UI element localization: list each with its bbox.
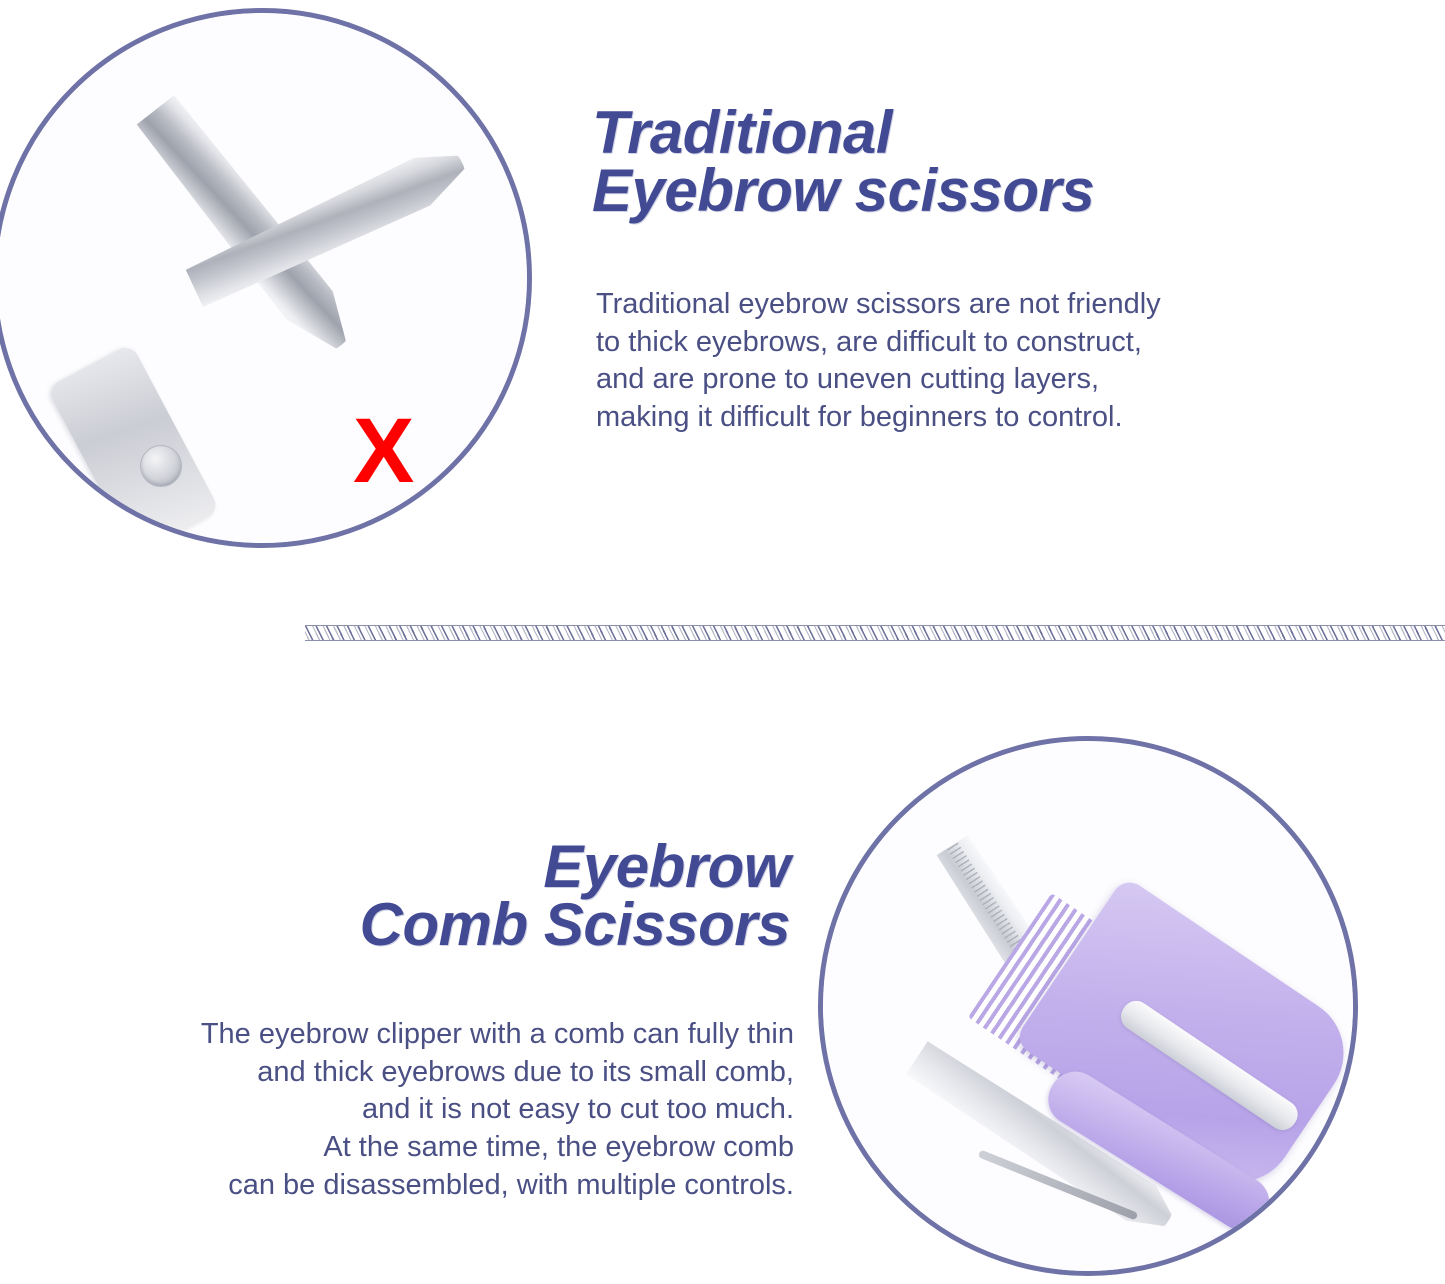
traditional-body-line-4: making it difficult for beginners to con… <box>596 399 1356 437</box>
comb-scissors-body-line-2: and thick eyebrows due to its small comb… <box>4 1054 794 1092</box>
comb-scissors-headline: Eyebrow Comb Scissors <box>150 838 790 953</box>
comb-scissors-body-line-3: and it is not easy to cut too much. <box>4 1091 794 1129</box>
traditional-scissors-photo: X <box>0 13 527 543</box>
traditional-body-line-3: and are prone to uneven cutting layers, <box>596 361 1356 399</box>
traditional-body-line-1: Traditional eyebrow scissors are not fri… <box>596 286 1356 324</box>
rope-divider-strand <box>305 625 1445 641</box>
comb-scissors-photo-circle <box>818 736 1358 1276</box>
comb-scissors-photo <box>823 741 1353 1271</box>
comb-scissors-body-text: The eyebrow clipper with a comb can full… <box>4 1016 794 1204</box>
comb-scissors-body-line-5: can be disassembled, with multiple contr… <box>4 1167 794 1205</box>
rope-divider <box>305 622 1445 644</box>
traditional-headline-line-2: Eyebrow scissors <box>592 162 1292 220</box>
red-x-icon: X <box>353 405 412 497</box>
comb-scissors-headline-line-1: Eyebrow <box>150 838 790 896</box>
infographic-page: X Traditional Eyebrow scissors Tradition… <box>0 0 1445 1284</box>
traditional-headline: Traditional Eyebrow scissors <box>592 104 1292 219</box>
comb-scissors-body-line-1: The eyebrow clipper with a comb can full… <box>4 1016 794 1054</box>
traditional-body-text: Traditional eyebrow scissors are not fri… <box>596 286 1356 437</box>
scissor-pivot-screw <box>140 445 182 487</box>
traditional-body-line-2: to thick eyebrows, are difficult to cons… <box>596 324 1356 362</box>
traditional-scissors-photo-circle: X <box>0 8 532 548</box>
comb-scissors-headline-line-2: Comb Scissors <box>150 896 790 954</box>
comb-scissors-body-line-4: At the same time, the eyebrow comb <box>4 1129 794 1167</box>
scissor-shank <box>46 343 220 543</box>
traditional-headline-line-1: Traditional <box>592 104 1292 162</box>
